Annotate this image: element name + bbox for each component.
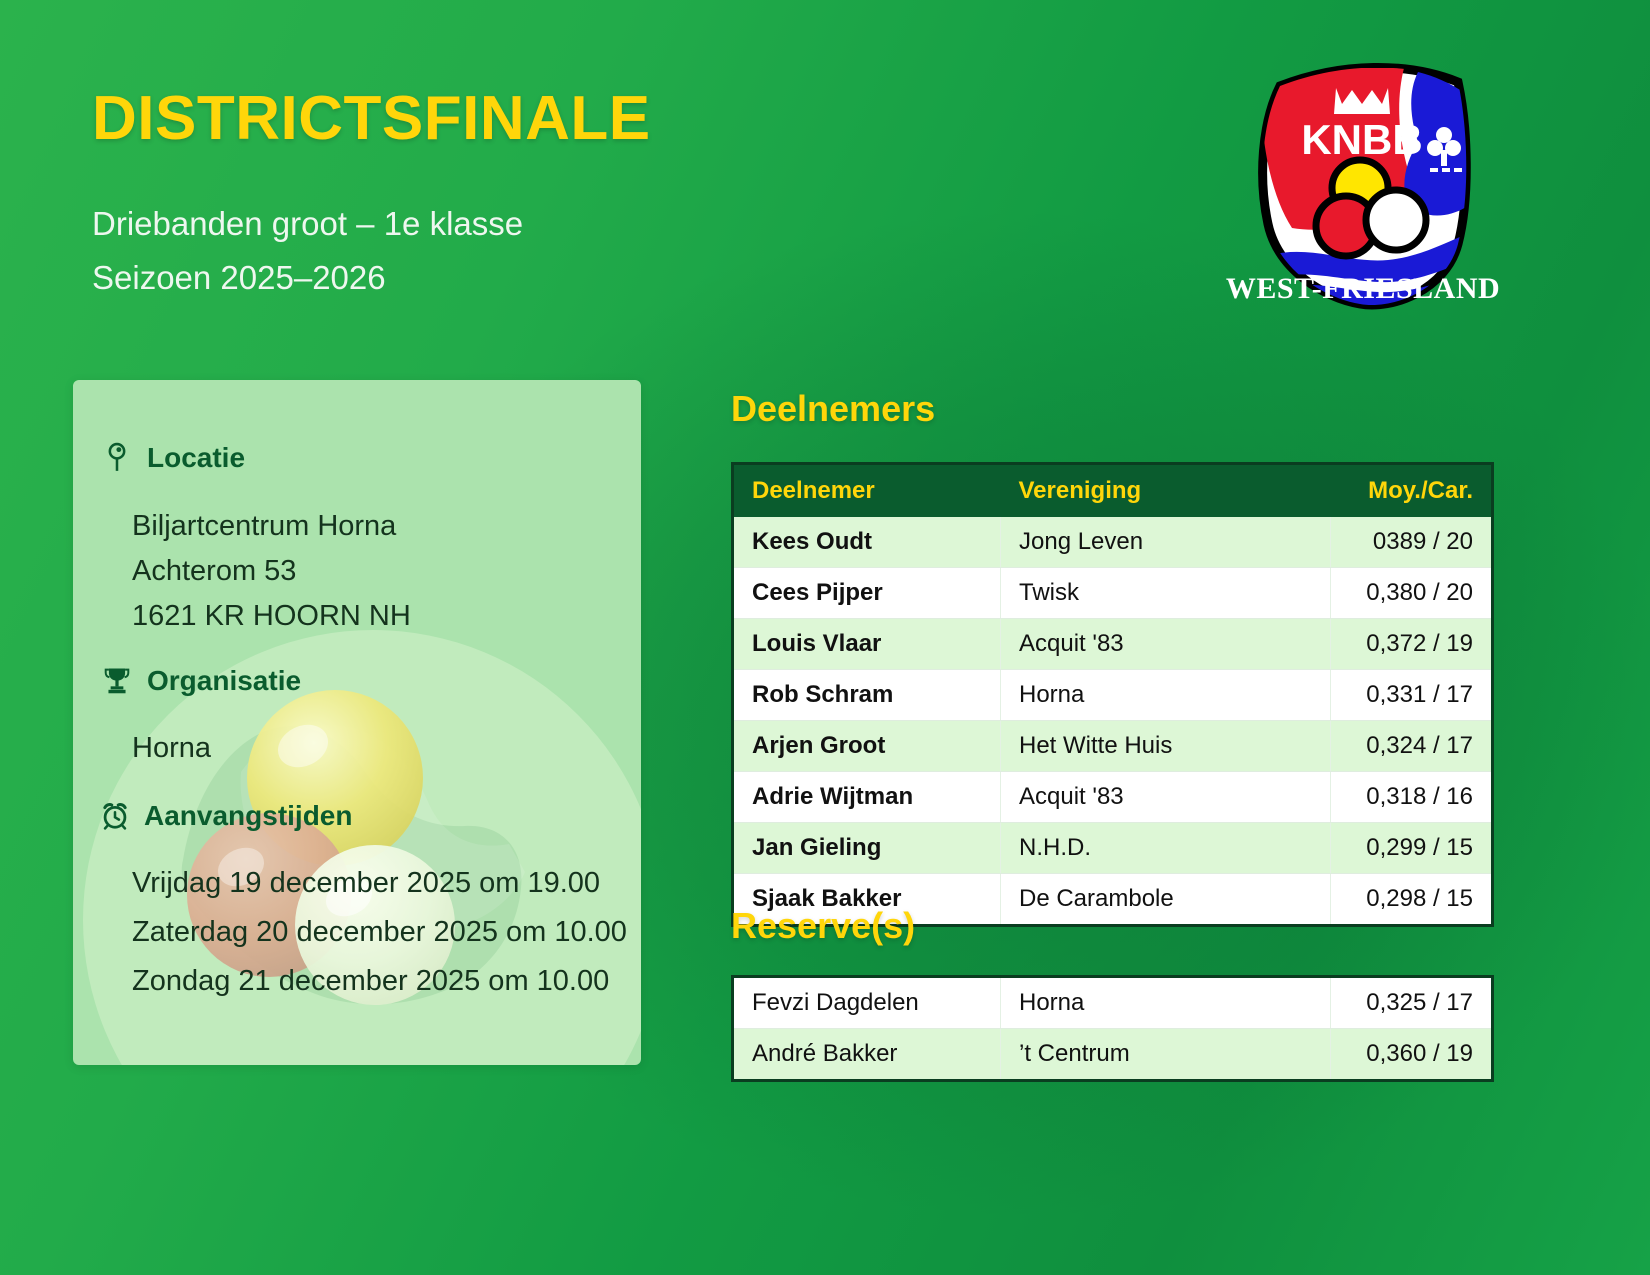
reserve-moy: 0,360 / 19 — [1331, 1029, 1493, 1081]
section-header-organisatie: Organisatie — [103, 665, 301, 697]
section-header-locatie: Locatie — [103, 442, 245, 474]
table-row: Arjen Groot Het Witte Huis 0,324 / 17 — [733, 721, 1493, 772]
reserves-table: Fevzi Dagdelen Horna 0,325 / 17 André Ba… — [731, 975, 1494, 1082]
participant-name: Rob Schram — [733, 670, 1001, 721]
subtitle-season: Seizoen 2025–2026 — [92, 259, 386, 297]
participant-moy: 0,331 / 17 — [1331, 670, 1493, 721]
participants-table: Deelnemer Vereniging Moy./Car. Kees Oudt… — [731, 462, 1494, 927]
participant-club: Horna — [1001, 670, 1331, 721]
participant-club: Acquit '83 — [1001, 619, 1331, 670]
participant-moy: 0389 / 20 — [1331, 517, 1493, 568]
table-row: Cees Pijper Twisk 0,380 / 20 — [733, 568, 1493, 619]
participants-header-row: Deelnemer Vereniging Moy./Car. — [733, 464, 1493, 518]
location-line-2: Achterom 53 — [132, 555, 296, 588]
location-pin-icon — [103, 442, 133, 474]
district-name: WEST-FRIESLAND — [1218, 272, 1508, 306]
participants-heading: Deelnemers — [731, 388, 935, 430]
subtitle-discipline: Driebanden groot – 1e klasse — [92, 205, 523, 243]
reserve-club: ’t Centrum — [1001, 1029, 1331, 1081]
participant-moy: 0,298 / 15 — [1331, 874, 1493, 926]
participant-moy: 0,380 / 20 — [1331, 568, 1493, 619]
table-row: Louis Vlaar Acquit '83 0,372 / 19 — [733, 619, 1493, 670]
participant-name: Kees Oudt — [733, 517, 1001, 568]
participant-club: Jong Leven — [1001, 517, 1331, 568]
table-row: Rob Schram Horna 0,331 / 17 — [733, 670, 1493, 721]
reserve-name: Fevzi Dagdelen — [733, 977, 1001, 1029]
participant-moy: 0,324 / 17 — [1331, 721, 1493, 772]
table-row: Kees Oudt Jong Leven 0389 / 20 — [733, 517, 1493, 568]
participant-club: Acquit '83 — [1001, 772, 1331, 823]
start-time-line-3: Zondag 21 december 2025 om 10.00 — [132, 965, 609, 998]
participant-name: Adrie Wijtman — [733, 772, 1001, 823]
info-card: Locatie Biljartcentrum Horna Achterom 53… — [73, 380, 641, 1065]
section-label-locatie: Locatie — [147, 442, 245, 474]
participant-moy: 0,318 / 16 — [1331, 772, 1493, 823]
participant-club: Twisk — [1001, 568, 1331, 619]
participant-moy: 0,372 / 19 — [1331, 619, 1493, 670]
start-time-line-1: Vrijdag 19 december 2025 om 19.00 — [132, 867, 600, 900]
participant-name: Louis Vlaar — [733, 619, 1001, 670]
reserve-club: Horna — [1001, 977, 1331, 1029]
alarm-clock-icon — [100, 800, 130, 832]
participant-name: Arjen Groot — [733, 721, 1001, 772]
reserve-moy: 0,325 / 17 — [1331, 977, 1493, 1029]
table-row: Adrie Wijtman Acquit '83 0,318 / 16 — [733, 772, 1493, 823]
start-time-line-2: Zaterdag 20 december 2025 om 10.00 — [132, 916, 627, 949]
organisation-line-1: Horna — [132, 732, 211, 765]
section-header-aanvangstijden: Aanvangstijden — [100, 800, 352, 832]
location-line-3: 1621 KR HOORN NH — [132, 600, 411, 633]
reserves-heading: Reserve(s) — [731, 905, 915, 947]
column-header-moy-car: Moy./Car. — [1331, 464, 1493, 518]
column-header-deelnemer: Deelnemer — [733, 464, 1001, 518]
column-header-vereniging: Vereniging — [1001, 464, 1331, 518]
participant-moy: 0,299 / 15 — [1331, 823, 1493, 874]
table-row: André Bakker ’t Centrum 0,360 / 19 — [733, 1029, 1493, 1081]
section-label-organisatie: Organisatie — [147, 665, 301, 697]
card-watermark — [73, 380, 641, 1065]
reserve-name: André Bakker — [733, 1029, 1001, 1081]
trophy-icon — [103, 665, 133, 697]
table-row: Jan Gieling N.H.D. 0,299 / 15 — [733, 823, 1493, 874]
participant-club: N.H.D. — [1001, 823, 1331, 874]
participant-name: Cees Pijper — [733, 568, 1001, 619]
section-label-aanvangstijden: Aanvangstijden — [144, 800, 352, 832]
participant-name: Jan Gieling — [733, 823, 1001, 874]
table-row: Fevzi Dagdelen Horna 0,325 / 17 — [733, 977, 1493, 1029]
poster-root: DISTRICTSFINALE Driebanden groot – 1e kl… — [0, 0, 1650, 1275]
page-title: DISTRICTSFINALE — [92, 88, 651, 150]
location-line-1: Biljartcentrum Horna — [132, 510, 396, 543]
knbb-wordmark: KNBB — [1301, 116, 1422, 163]
participant-club: De Carambole — [1001, 874, 1331, 926]
participant-club: Het Witte Huis — [1001, 721, 1331, 772]
